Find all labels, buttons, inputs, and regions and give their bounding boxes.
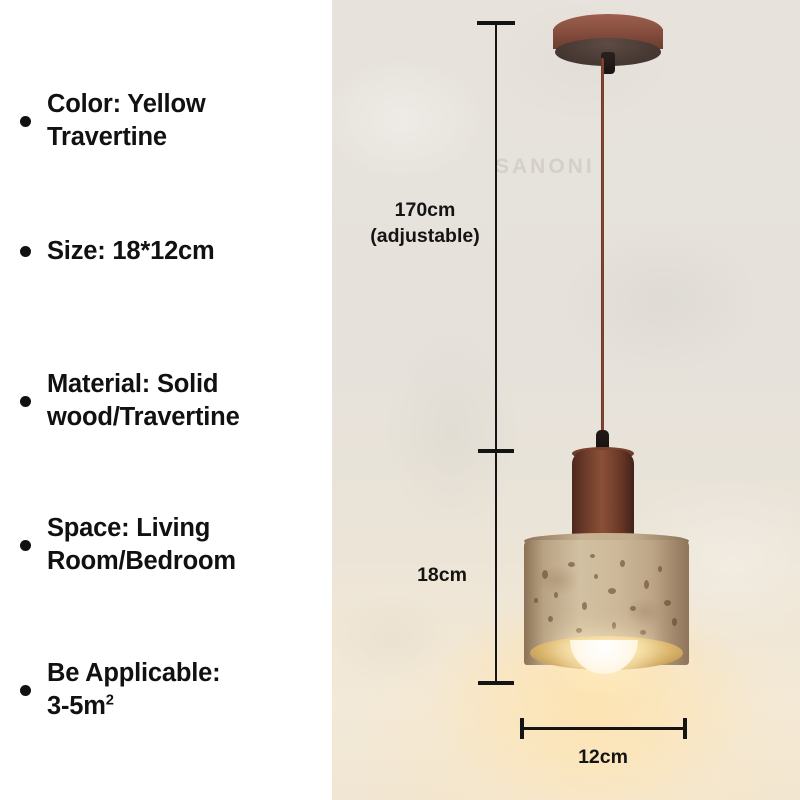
bullet-icon [20,246,31,257]
drop-dimension-note: (adjustable) [370,225,479,247]
product-spec-image: SANONI [0,0,800,800]
width-dim-line [520,727,687,730]
drop-dimension-value: 170cm [395,199,456,221]
spec-item-color: Color: YellowTravertine [0,82,332,160]
wall-texture [332,0,800,800]
bullet-icon [20,540,31,551]
height-dim-bottom-cap [478,681,514,685]
height-dim-line [495,451,497,683]
specification-panel: Color: YellowTravertine Size: 18*12cm Ma… [0,0,332,800]
bullet-icon [20,396,31,407]
spec-item-applicable: Be Applicable:3-5m2 [0,651,332,729]
spec-label-space: Space: LivingRoom/Bedroom [47,512,236,577]
watermark-text: SANONI [495,155,595,179]
product-photo: SANONI [332,0,800,800]
width-dimension-label: 12cm [543,745,663,771]
suspension-cord [601,58,604,440]
ceiling-canopy [553,14,663,62]
drop-dim-line [495,21,497,451]
spec-label-material: Material: Solidwood/Travertine [47,368,240,433]
spec-label-applicable: Be Applicable:3-5m2 [47,657,220,722]
drop-dimension-label: 170cm (adjustable) [360,198,490,249]
bullet-icon [20,116,31,127]
width-dim-right-cap [683,718,687,739]
height-dimension-label: 18cm [394,563,490,589]
bullet-icon [20,685,31,696]
spec-item-material: Material: Solidwood/Travertine [0,362,332,440]
spec-item-size: Size: 18*12cm [0,231,332,271]
spec-label-size: Size: 18*12cm [47,235,215,268]
spec-label-color: Color: YellowTravertine [47,88,205,153]
spec-item-space: Space: LivingRoom/Bedroom [0,506,332,584]
